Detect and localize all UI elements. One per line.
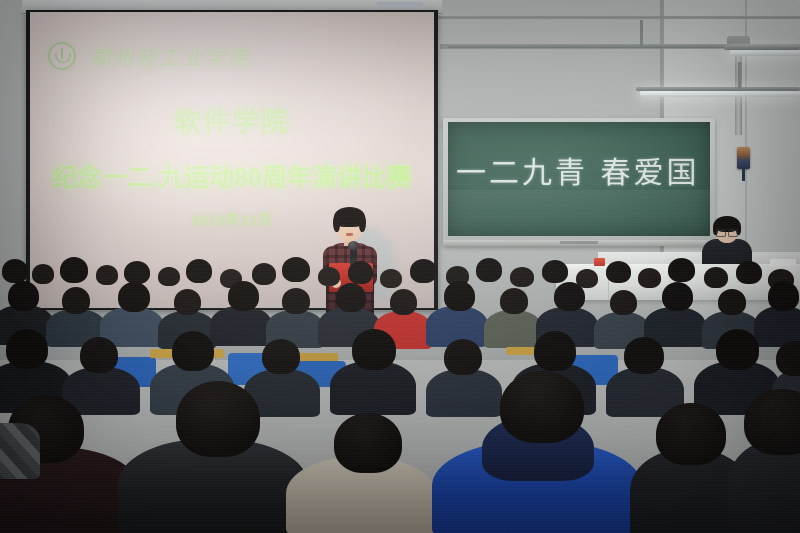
speaker-hair-left xyxy=(333,214,340,232)
light-housing-2 xyxy=(724,46,800,50)
audience-head xyxy=(390,289,417,315)
fire-alarm-switch-icon xyxy=(737,147,750,169)
audience-head xyxy=(500,288,528,314)
glasses-icon xyxy=(716,229,738,235)
slide-logo-row: 郑州轻工业学院 xyxy=(48,38,408,74)
audience-head xyxy=(656,403,726,465)
audience-head xyxy=(444,281,475,311)
chalk-tray-notch xyxy=(560,241,598,244)
audience-head xyxy=(334,413,402,473)
speaker-eye-right xyxy=(353,225,357,227)
slide-heading: 软件学院 xyxy=(30,100,434,139)
blackboard-chalk-text: 一二九青 春爱国 xyxy=(456,148,706,192)
audience-head xyxy=(282,288,310,314)
audience-head xyxy=(352,329,396,370)
audience-head xyxy=(228,281,259,311)
audience-head xyxy=(174,289,201,315)
audience-head xyxy=(6,329,48,369)
audience-head xyxy=(176,381,260,457)
fluorescent-tube-2 xyxy=(640,90,800,97)
university-emblem-icon xyxy=(48,42,76,70)
audience-head xyxy=(444,339,482,375)
audience-head xyxy=(534,331,576,371)
light-housing-3 xyxy=(636,87,800,91)
audience-head xyxy=(500,371,584,443)
audience-head xyxy=(768,281,799,311)
light-stem-2 xyxy=(738,62,741,90)
light-stem-1 xyxy=(640,20,643,46)
audience-head xyxy=(554,282,585,311)
lecture-hall-photo: 郑州轻工业学院 软件学院 纪念一二.九运动80周年演讲比赛 2015年11月 一… xyxy=(0,0,800,533)
ceiling-seam xyxy=(420,16,800,19)
speaker-hair-right xyxy=(359,214,366,232)
audience-head xyxy=(262,339,300,374)
audience-head xyxy=(80,337,118,373)
roller-label xyxy=(377,2,423,9)
audience-row-middle xyxy=(0,327,800,405)
audience-head xyxy=(718,289,746,315)
audience-row-front xyxy=(0,395,800,533)
audience-head xyxy=(172,331,214,371)
microphone-head-icon xyxy=(348,241,359,250)
audience-head xyxy=(662,282,693,311)
audience-head xyxy=(624,337,664,374)
audience-head xyxy=(8,281,39,311)
audience-head xyxy=(610,290,637,315)
audience-camo-sleeve xyxy=(0,423,40,479)
audience-head xyxy=(744,389,800,455)
university-name: 郑州轻工业学院 xyxy=(90,42,251,71)
fluorescent-tube-1 xyxy=(730,49,800,56)
slide-title: 纪念一二.九运动80周年演讲比赛 xyxy=(30,158,434,194)
blackboard-smudge xyxy=(448,190,710,236)
audience-head xyxy=(336,283,366,312)
audience-head xyxy=(62,287,90,314)
speaker-mouth xyxy=(346,233,353,236)
speaker-eye-left xyxy=(341,225,345,227)
blackboard: 一二九青 春爱国 xyxy=(448,122,710,236)
fire-alarm-cord xyxy=(742,168,745,181)
audience-head xyxy=(716,329,759,370)
audience-head xyxy=(776,341,800,376)
audience-head xyxy=(118,282,150,312)
audience xyxy=(0,255,800,533)
